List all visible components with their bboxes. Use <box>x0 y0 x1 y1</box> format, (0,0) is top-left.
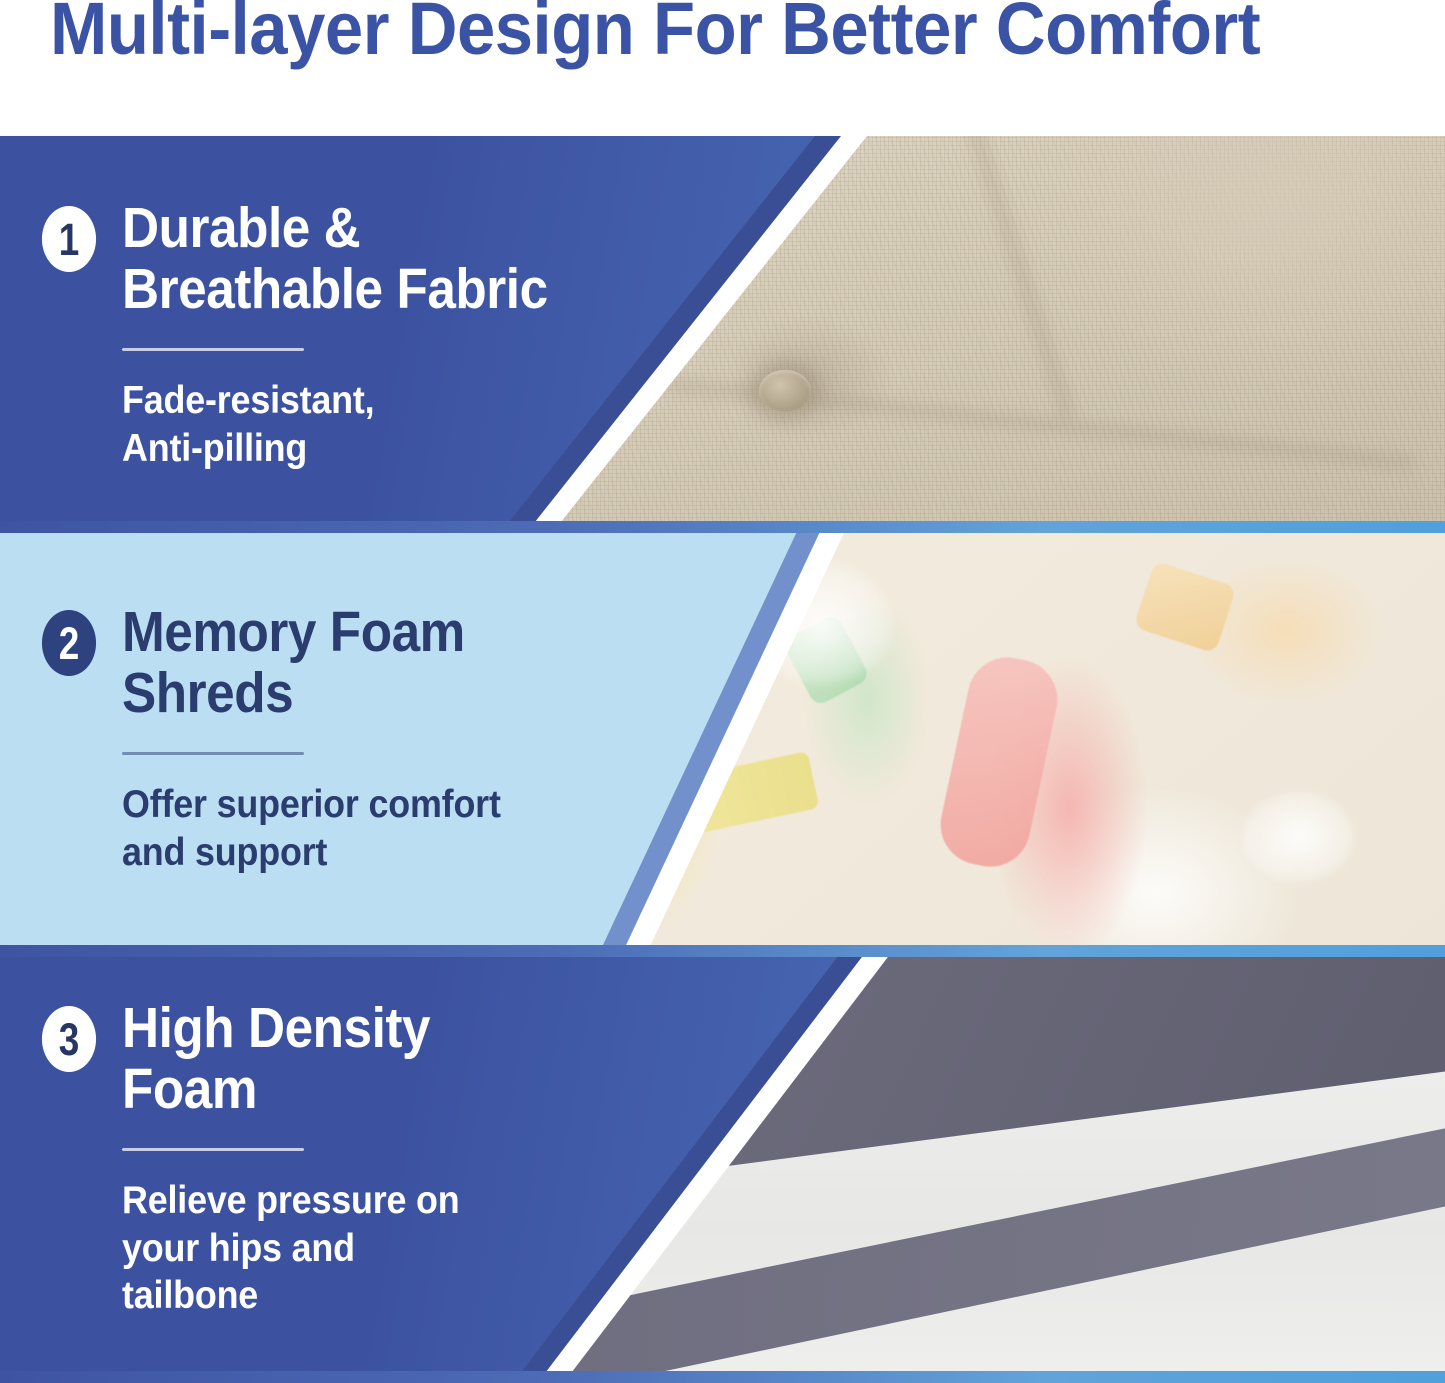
feature-panel-durable-breathable-fabric: 1 Durable & Breathable Fabric Fade-resis… <box>0 136 1445 526</box>
panel-2-heading: Memory Foam Shreds <box>122 602 465 724</box>
step-badge-1: 1 <box>42 206 96 272</box>
panel-divider-band-3 <box>0 1371 1445 1383</box>
panel-2-content: 2 Memory Foam Shreds Offer superior comf… <box>36 602 534 876</box>
panel-3-subtitle: Relieve pressure on your hips and tailbo… <box>122 1177 460 1320</box>
panel-1-content: 1 Durable & Breathable Fabric Fade-resis… <box>36 198 595 472</box>
panel-1-heading-row: 1 Durable & Breathable Fabric <box>36 198 595 320</box>
panel-1-heading: Durable & Breathable Fabric <box>122 198 548 320</box>
foam-shred <box>933 650 1065 874</box>
panel-3-heading: High Density Foam <box>122 998 430 1120</box>
foam-shred <box>1133 561 1236 654</box>
panel-2-subtitle: Offer superior comfort and support <box>122 781 501 876</box>
feature-panel-memory-foam-shreds: 2 Memory Foam Shreds Offer superior comf… <box>0 530 1445 952</box>
panel-1-divider-rule <box>122 348 304 351</box>
title-bar: Multi-layer Design For Better Comfort <box>0 0 1445 136</box>
fabric-tuft-button <box>759 370 811 412</box>
panel-divider-band-1 <box>0 521 1445 533</box>
panel-3-content: 3 High Density Foam Relieve pressure on … <box>36 998 489 1320</box>
feature-panel-high-density-foam: 3 High Density Foam Relieve pressure on … <box>0 956 1445 1383</box>
fiber-fill-cluster <box>1243 792 1353 882</box>
panel-1-subtitle: Fade-resistant, Anti-pilling <box>122 377 557 472</box>
panel-2-divider-rule <box>122 752 304 755</box>
page-title: Multi-layer Design For Better Comfort <box>50 0 1260 71</box>
step-badge-2: 2 <box>42 610 96 676</box>
panel-divider-band-2 <box>0 945 1445 957</box>
panel-3-heading-row: 3 High Density Foam <box>36 998 489 1120</box>
fabric-crease <box>964 136 1076 419</box>
panel-2-heading-row: 2 Memory Foam Shreds <box>36 602 534 724</box>
panel-3-divider-rule <box>122 1148 304 1151</box>
step-badge-3: 3 <box>42 1006 96 1072</box>
